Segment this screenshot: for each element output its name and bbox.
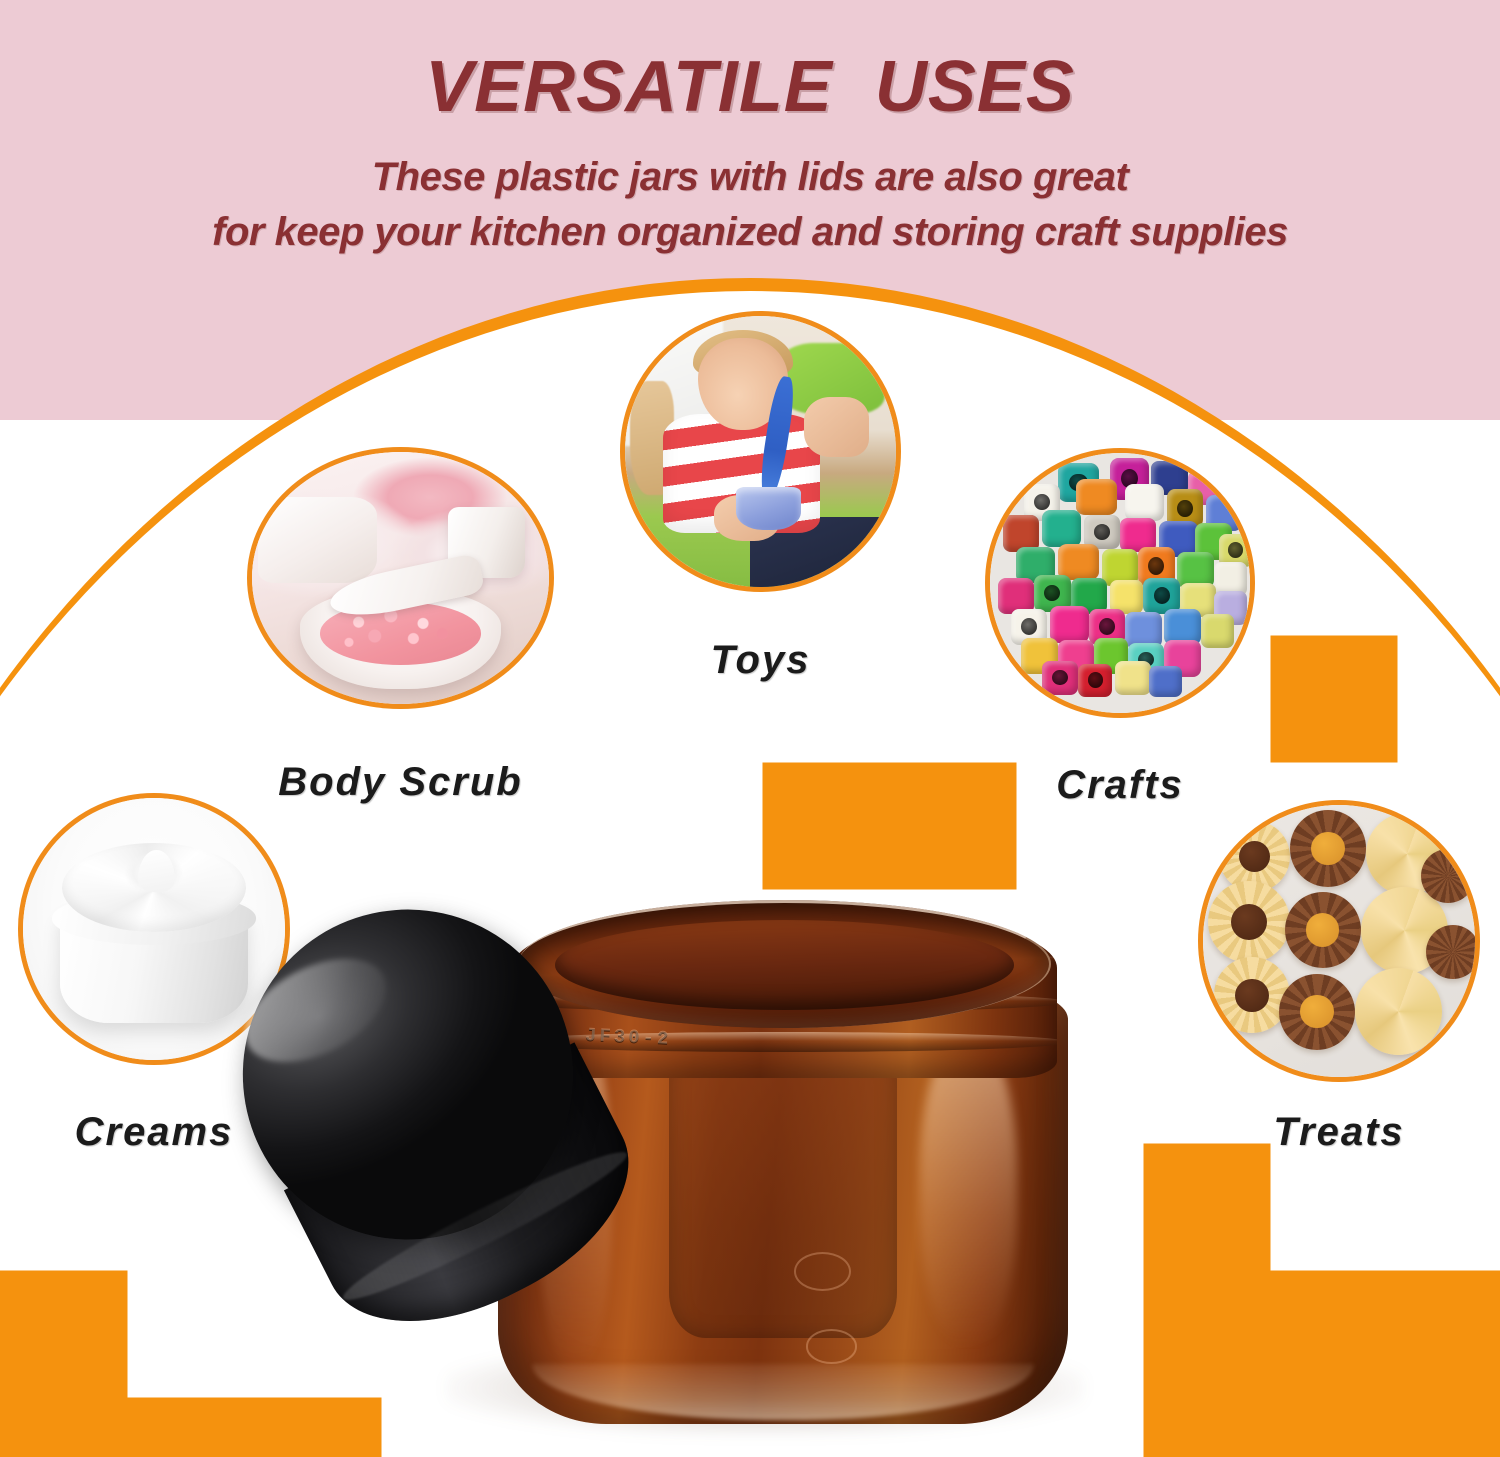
jar-front-panel: [669, 1054, 897, 1338]
craft-bead: [1201, 614, 1235, 648]
use-case-bubble-treats: [1198, 800, 1480, 1082]
treat-cookie: [1421, 849, 1475, 903]
caption-toys: Toys: [620, 638, 901, 683]
treat-cookie: [1279, 974, 1355, 1050]
craft-bead: [1042, 661, 1078, 695]
caption-body-scrub: Body Scrub: [247, 760, 554, 805]
jar-emboss-mark-bottom: [806, 1329, 857, 1363]
cookie-center-dot: [1300, 995, 1334, 1029]
slime-cup-shape: [736, 487, 801, 530]
crafts-beads-photo: [990, 453, 1250, 713]
product-image-jar: JF30-2: [250, 890, 1080, 1457]
jar-emboss-mark-top: [794, 1252, 851, 1291]
craft-bead: [1050, 606, 1089, 642]
craft-bead: [1042, 510, 1081, 546]
cookie-center-dot: [1231, 904, 1267, 940]
body-scrub-photo: [252, 452, 549, 704]
cookie-center-dot: [1306, 913, 1340, 947]
jar-mouth-opening: [518, 900, 1051, 1028]
use-case-grid: Body Scrub Toys Crafts: [0, 0, 1500, 1457]
cookie-center-dot: [1239, 841, 1270, 872]
craft-bead: [1125, 484, 1164, 520]
caption-crafts: Crafts: [985, 763, 1255, 808]
use-case-bubble-crafts: [985, 448, 1255, 718]
caption-treats: Treats: [1198, 1110, 1480, 1155]
treat-cookie: [1285, 892, 1361, 968]
cookie-center-dot: [1311, 832, 1345, 866]
child-arm-shape: [804, 397, 869, 457]
jar-base-highlight: [532, 1364, 1034, 1420]
craft-bead: [1078, 664, 1112, 698]
craft-bead: [1115, 661, 1151, 695]
treat-cookie: [1214, 957, 1290, 1033]
infographic-canvas: VERSATILE USES These plastic jars with l…: [0, 0, 1500, 1457]
use-case-bubble-toys: [620, 311, 901, 592]
use-case-bubble-body-scrub: [247, 447, 554, 709]
treat-cookie: [1426, 925, 1480, 979]
cookie-center-dot: [1235, 979, 1269, 1013]
jar-rim-highlight: [518, 900, 1051, 1028]
toys-photo: [625, 316, 896, 587]
lid-highlight: [229, 938, 403, 1083]
treats-photo: [1203, 805, 1475, 1077]
treat-cookie: [1208, 881, 1290, 963]
craft-bead: [1149, 666, 1183, 697]
jar-embossed-code: JF30-2: [585, 1024, 672, 1050]
treat-cookie: [1290, 810, 1366, 886]
towel-shape: [258, 497, 377, 583]
treat-cookie: [1355, 968, 1442, 1055]
craft-bead: [1076, 479, 1118, 515]
